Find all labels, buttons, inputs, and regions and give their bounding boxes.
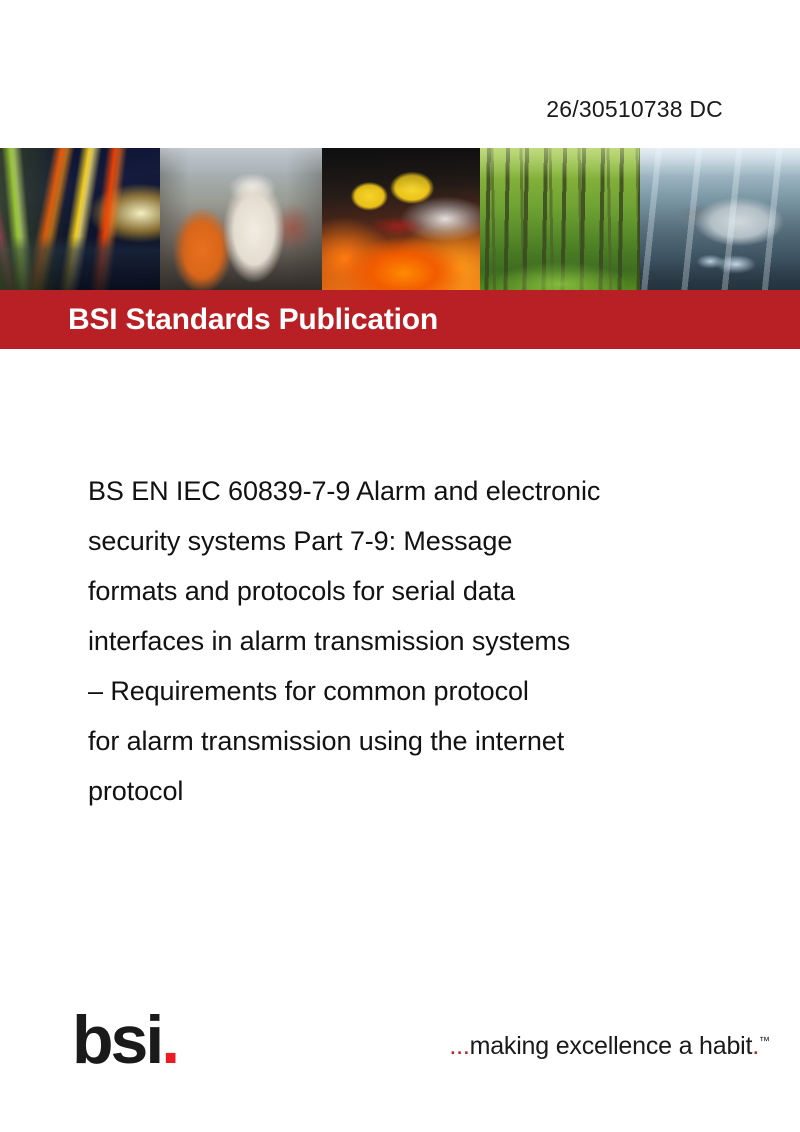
trademark-symbol: ™ [759, 1036, 770, 1048]
tagline-text: making excellence a habit [470, 1032, 753, 1060]
cover-image-strip [0, 148, 800, 290]
title-line: interfaces in alarm transmission systems [88, 616, 728, 666]
title-line: – Requirements for common protocol [88, 666, 728, 716]
tagline-end-dot: . [752, 1032, 759, 1060]
bsi-logo-dot: . [161, 1002, 177, 1078]
forest-photo [480, 148, 640, 290]
bsi-tagline: ...making excellence a habit.™ [449, 1032, 770, 1061]
traffic-light-trails-photo [0, 148, 160, 290]
title-line: formats and protocols for serial data [88, 566, 728, 616]
car-assembly-line-photo [640, 148, 800, 290]
title-line: BS EN IEC 60839-7-9 Alarm and electronic [88, 466, 728, 516]
bsi-logo: bsi. [72, 1000, 177, 1080]
title-line: security systems Part 7-9: Message [88, 516, 728, 566]
tagline-lead-dots: ... [449, 1032, 469, 1060]
page-title: BS EN IEC 60839-7-9 Alarm and electronic… [88, 466, 728, 816]
title-line: protocol [88, 766, 728, 816]
standards-publication-banner: BSI Standards Publication [0, 290, 800, 349]
firefighters-photo [322, 148, 480, 290]
bsi-logo-text: bsi [72, 1002, 161, 1078]
warehouse-worker-photo [160, 148, 322, 290]
banner-label: BSI Standards Publication [68, 303, 438, 337]
title-line: for alarm transmission using the interne… [88, 716, 728, 766]
page-footer: bsi. ...making excellence a habit.™ [0, 1000, 800, 1100]
document-number: 26/30510738 DC [546, 96, 723, 123]
